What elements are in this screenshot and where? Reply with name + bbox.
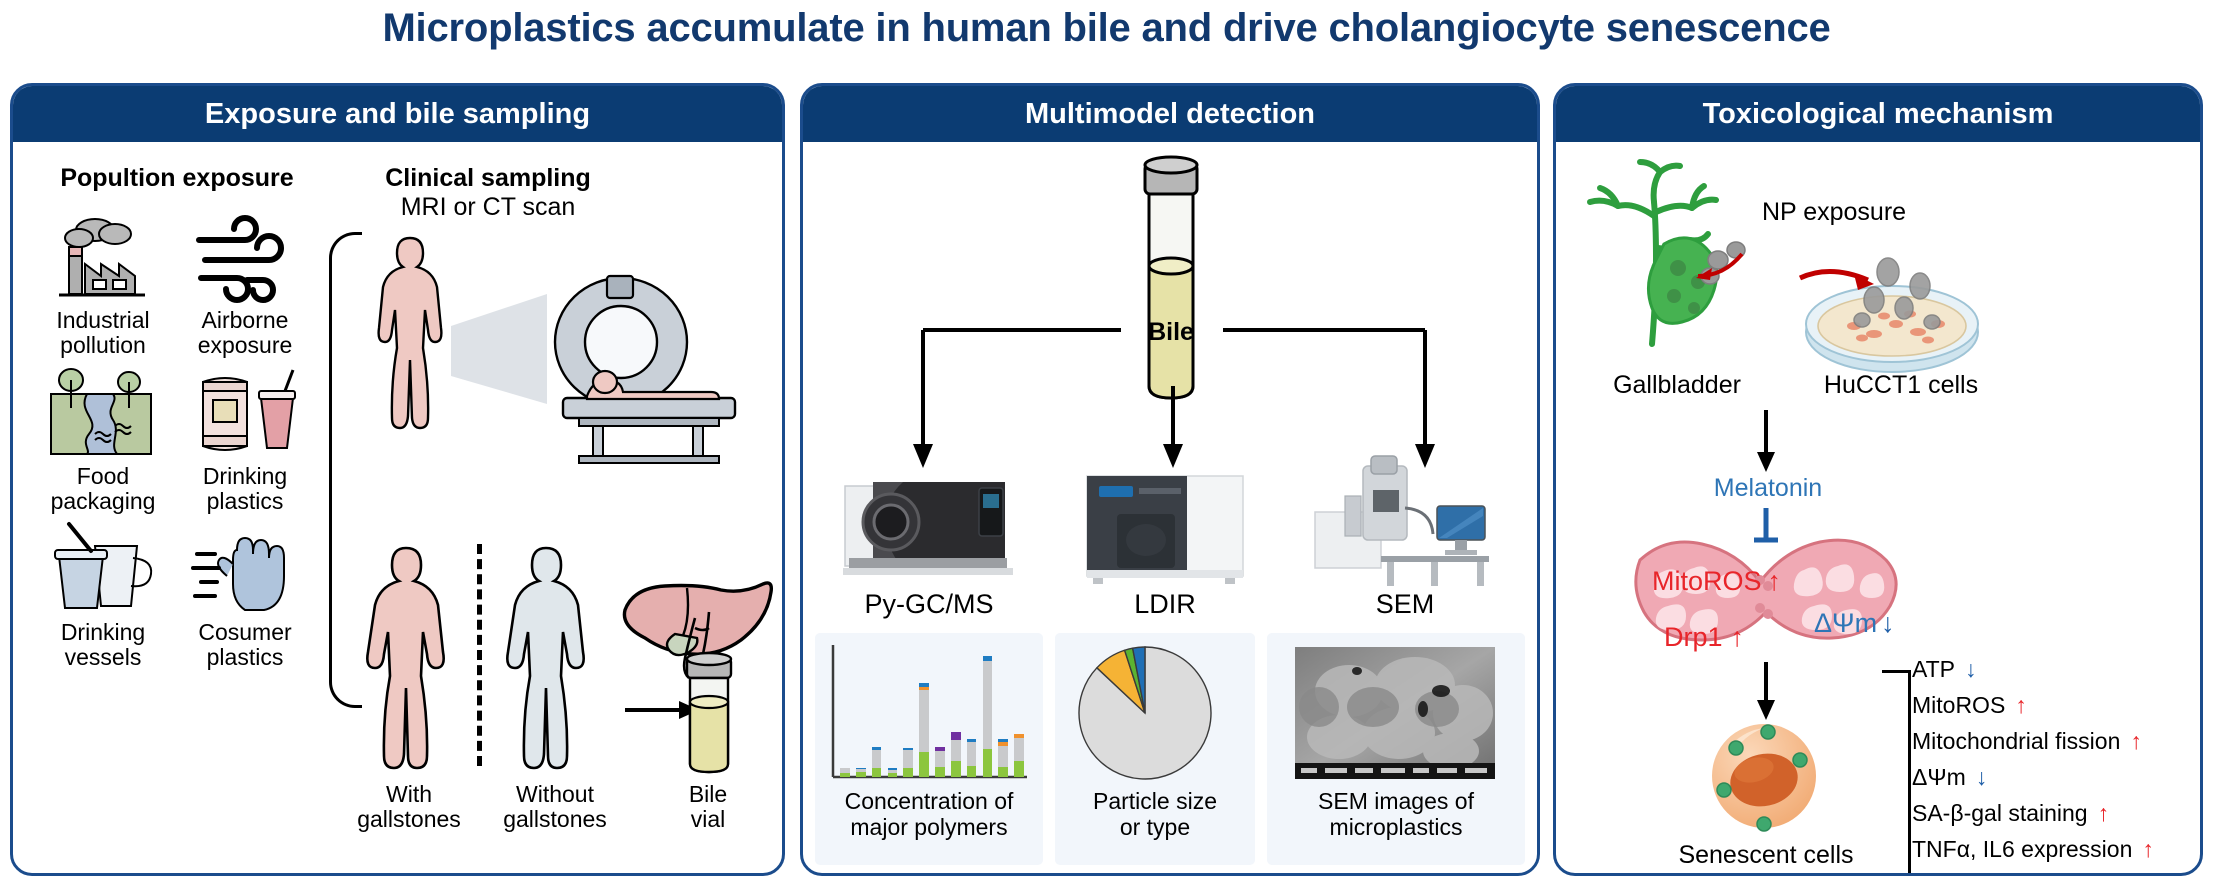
bar-segment xyxy=(872,750,882,769)
bar-segment xyxy=(935,767,945,777)
bar-segment xyxy=(840,773,850,777)
standing-person-icon xyxy=(365,232,455,432)
bar-group xyxy=(983,656,993,777)
melatonin-label: Melatonin xyxy=(1686,474,1850,503)
bar-segment xyxy=(919,683,929,687)
bar-segment xyxy=(951,761,961,777)
exposure-item-label: Drinking plastics xyxy=(163,464,327,514)
delta-psi-m-text: ΔΨm xyxy=(1814,608,1877,638)
bar-segment xyxy=(840,768,850,774)
outcome-row: Mitochondrial fission↑ xyxy=(1912,728,2142,755)
sem-instrument-icon xyxy=(1301,450,1501,590)
bar-segment xyxy=(998,746,1008,767)
label-line2: pollution xyxy=(60,332,146,358)
bar-segment xyxy=(903,748,913,751)
gallbladder-label: Gallbladder xyxy=(1582,372,1772,399)
result-card-bar-chart: Concentration of major polymers xyxy=(815,633,1043,865)
graphical-abstract: Microplastics accumulate in human bile a… xyxy=(0,0,2213,885)
delta-psi-m-label: ΔΨm↓ xyxy=(1814,608,1895,639)
up-arrow-icon: ↑ xyxy=(1731,622,1745,652)
panel-right-body: NP exposure xyxy=(1556,142,2200,873)
bar-group xyxy=(998,739,1008,777)
bar-group xyxy=(919,683,929,777)
hucct1-cells-label: HuCCT1 cells xyxy=(1796,372,2006,399)
river-landscape-icon xyxy=(43,364,155,456)
snack-bag-cup-icon xyxy=(189,364,301,456)
bar-segment xyxy=(919,690,929,753)
bar-segment xyxy=(1014,734,1024,738)
label-line1: Industrial xyxy=(56,307,149,333)
pie-chart-svg xyxy=(1073,645,1223,785)
label-line2: vessels xyxy=(65,644,142,670)
panel-toxicological-mechanism: Toxicological mechanism xyxy=(1553,83,2203,876)
outcome-row: MitoROS↑ xyxy=(1912,692,2027,719)
bar-segment xyxy=(856,768,866,770)
cup-mug-icon xyxy=(41,520,153,612)
pygcms-instrument-icon xyxy=(839,472,1019,584)
bar-group xyxy=(872,747,882,777)
panel-right-header: Toxicological mechanism xyxy=(1556,86,2200,142)
outcome-text: ATP xyxy=(1912,656,1955,682)
down-arrow-icon: ↓ xyxy=(1965,656,1977,682)
caption-line2: major polymers xyxy=(850,814,1007,840)
bar-group xyxy=(840,768,850,777)
bar-segment xyxy=(998,739,1008,742)
down-arrow-icon: ↓ xyxy=(1976,764,1988,790)
bar-segment xyxy=(903,768,913,777)
bar-group xyxy=(967,739,977,777)
up-arrow-icon: ↑ xyxy=(2015,692,2027,718)
bar-segment xyxy=(856,769,866,772)
hucct1-petri-dish-icon xyxy=(1792,246,1992,386)
bar-group xyxy=(1014,734,1024,777)
bar-segment xyxy=(951,732,961,741)
cohort-divider-dashed xyxy=(477,544,482,766)
bar-group xyxy=(951,732,961,778)
bar-group xyxy=(935,747,945,777)
bar-segment xyxy=(935,751,945,766)
caption-line1: Concentration of xyxy=(845,788,1014,814)
bar-segment xyxy=(998,767,1008,777)
clinical-sampling-subtitle: MRI or CT scan xyxy=(333,194,643,221)
result-caption: Particle size or type xyxy=(1055,789,1255,841)
panel-mid-body: Bile xyxy=(803,142,1537,873)
bar-segment xyxy=(967,766,977,777)
panel-left-header: Exposure and bile sampling xyxy=(13,86,782,142)
drp1-text: Drp1 xyxy=(1664,622,1723,652)
bar-segment xyxy=(998,742,1008,746)
label-line2: plastics xyxy=(207,488,284,514)
bar-segment xyxy=(967,739,977,742)
bar-segment xyxy=(1014,761,1024,777)
senescent-cell-icon xyxy=(1702,718,1830,838)
mitoros-label: MitoROS↑ xyxy=(1652,566,1781,597)
ldir-instrument-icon xyxy=(1081,470,1249,588)
exposure-item-label: Drinking vessels xyxy=(21,620,185,670)
pie-chart xyxy=(1073,645,1237,785)
label-line2: gallstones xyxy=(357,806,461,832)
outcome-text: Mitochondrial fission xyxy=(1912,728,2120,754)
outcome-row: TNFα, IL6 expression↑ xyxy=(1912,836,2154,863)
outcomes-bracket xyxy=(1882,670,1911,876)
label-line2: exposure xyxy=(198,332,293,358)
flow-arrow-down xyxy=(1754,662,1778,722)
outcome-text: ΔΨm xyxy=(1912,764,1966,790)
section-population-exposure-title: Popultion exposure xyxy=(27,164,327,193)
caption-line1: SEM images of xyxy=(1318,788,1474,814)
label-line2: plastics xyxy=(207,644,284,670)
result-card-pie-chart: Particle size or type xyxy=(1055,633,1255,865)
label-line1: Food xyxy=(77,463,129,489)
bar-chart xyxy=(827,643,1029,783)
up-arrow-icon: ↑ xyxy=(2098,800,2110,826)
panel-multimodel-detection: Multimodel detection Bile xyxy=(800,83,1540,876)
label-line2: vial xyxy=(691,806,726,832)
bar-segment xyxy=(888,768,898,770)
label-line1: Bile xyxy=(689,781,727,807)
bar-segment xyxy=(967,742,977,766)
bar-segment xyxy=(935,747,945,752)
up-arrow-icon: ↑ xyxy=(1768,566,1782,596)
bar-group xyxy=(903,748,913,777)
bar-chart-bars xyxy=(837,649,1027,777)
senescent-cells-label: Senescent cells xyxy=(1656,842,1876,869)
label-line2: packaging xyxy=(51,488,156,514)
caption-line2: microplastics xyxy=(1330,814,1463,840)
bar-segment xyxy=(983,656,993,662)
exposure-item-label: Airborne exposure xyxy=(163,308,327,358)
bar-segment xyxy=(983,661,993,748)
panel-exposure-and-bile-sampling: Exposure and bile sampling Popultion exp… xyxy=(10,83,785,876)
factory-icon xyxy=(47,214,159,306)
bile-vial-icon xyxy=(673,652,745,778)
panel-left-body: Popultion exposure Clinical sampling MRI… xyxy=(13,142,782,873)
bar-segment xyxy=(856,772,866,777)
outcome-row: ATP↓ xyxy=(1912,656,1977,683)
label-line1: Drinking xyxy=(203,463,287,489)
result-card-sem-image: SEM images of microplastics xyxy=(1267,633,1525,865)
result-caption: SEM images of microplastics xyxy=(1267,789,1525,841)
gloves-icon xyxy=(189,520,301,612)
np-exposure-label: NP exposure xyxy=(1762,198,1906,227)
label-line2: gallstones xyxy=(503,806,607,832)
exposure-item-label: Food packaging xyxy=(21,464,185,514)
bar-segment xyxy=(1014,738,1024,761)
bar-group xyxy=(888,768,898,777)
label-line1: Airborne xyxy=(202,307,289,333)
gallbladder-icon xyxy=(1566,156,1796,356)
instrument-label: SEM xyxy=(1315,590,1495,619)
bar-segment xyxy=(888,770,898,773)
instrument-label: LDIR xyxy=(1075,590,1255,619)
bar-segment xyxy=(919,752,929,777)
mri-scanner-icon xyxy=(533,270,743,470)
up-arrow-icon: ↑ xyxy=(2142,836,2154,862)
label-line1: Cosumer xyxy=(198,619,291,645)
instrument-label: Py-GC/MS xyxy=(819,590,1039,619)
page-title: Microplastics accumulate in human bile a… xyxy=(0,6,2213,51)
flow-arrow-down xyxy=(1754,410,1778,474)
label-line1: With xyxy=(386,781,432,807)
body-blue-icon xyxy=(491,542,601,772)
drp1-label: Drp1↑ xyxy=(1664,622,1744,653)
mitoros-text: MitoROS xyxy=(1652,566,1762,596)
bar-segment xyxy=(951,740,961,761)
down-arrow-icon: ↓ xyxy=(1881,608,1895,638)
caption-line1: Particle size xyxy=(1093,788,1217,814)
result-caption: Concentration of major polymers xyxy=(815,789,1043,841)
cohort-label: Without gallstones xyxy=(475,782,635,832)
outcome-text: MitoROS xyxy=(1912,692,2005,718)
label-line1: Without xyxy=(516,781,594,807)
caption-line2: or type xyxy=(1120,814,1190,840)
outcome-text: TNFα, IL6 expression xyxy=(1912,836,2132,862)
bar-segment xyxy=(983,749,993,777)
exposure-item-label: Industrial pollution xyxy=(21,308,185,358)
bar-group xyxy=(856,768,866,777)
bar-segment xyxy=(888,773,898,777)
bar-segment xyxy=(903,750,913,768)
outcome-row: SA-β-gal staining↑ xyxy=(1912,800,2109,827)
outcome-row: ΔΨm↓ xyxy=(1912,764,1987,791)
bar-segment xyxy=(919,687,929,690)
bile-vial-label: Bile vial xyxy=(643,782,773,832)
label-line1: Drinking xyxy=(61,619,145,645)
bar-segment xyxy=(872,768,882,777)
up-arrow-icon: ↑ xyxy=(2130,728,2142,754)
outcome-text: SA-β-gal staining xyxy=(1912,800,2088,826)
bar-segment xyxy=(872,747,882,750)
panel-mid-header: Multimodel detection xyxy=(803,86,1537,142)
sem-micrograph-image xyxy=(1295,647,1495,779)
body-pink-icon xyxy=(351,542,461,772)
wind-icon xyxy=(189,214,301,306)
exposure-item-label: Cosumer plastics xyxy=(163,620,327,670)
cohort-label: With gallstones xyxy=(335,782,483,832)
section-clinical-sampling-title: Clinical sampling xyxy=(333,164,643,193)
